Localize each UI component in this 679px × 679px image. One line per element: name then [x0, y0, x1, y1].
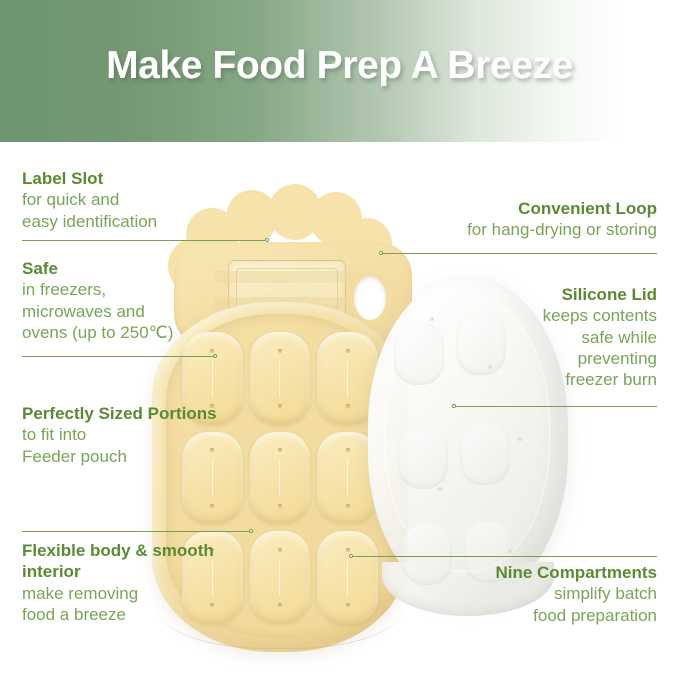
header-banner: Make Food Prep A Breeze: [0, 0, 679, 142]
product-infographic: Make Food Prep A Breeze: [0, 0, 679, 679]
callout-line: ovens (up to 250℃): [22, 322, 237, 343]
leader-line-safe: [22, 356, 214, 357]
leader-endpoint-dot: [349, 554, 353, 558]
callout-flexible-body: Flexible body & smooth interior make rem…: [22, 540, 232, 625]
callout-line: for hang-drying or storing: [357, 219, 657, 240]
callout-line: microwaves and: [22, 301, 237, 322]
compartment: [250, 332, 311, 425]
callout-line: in freezers,: [22, 279, 237, 300]
callout-title: Convenient Loop: [357, 198, 657, 219]
leader-endpoint-dot: [249, 529, 253, 533]
callout-line: for quick and: [22, 189, 232, 210]
page-title: Make Food Prep A Breeze: [0, 44, 679, 88]
callout-line: keeps contents: [377, 305, 657, 326]
callout-line: food preparation: [357, 605, 657, 626]
callout-perfectly-sized-portions: Perfectly Sized Portions to fit into Fee…: [22, 403, 222, 467]
lid-emboss: [398, 427, 448, 489]
callout-safe: Safe in freezers, microwaves and ovens (…: [22, 258, 237, 343]
lid-speck: [508, 549, 512, 553]
callout-convenient-loop: Convenient Loop for hang-drying or stori…: [357, 198, 657, 241]
leader-line-loop: [382, 253, 657, 254]
compartment: [250, 432, 311, 525]
callout-title: Label Slot: [22, 168, 232, 189]
leader-line-compartments: [352, 556, 657, 557]
callout-nine-compartments: Nine Compartments simplify batch food pr…: [357, 562, 657, 626]
callout-line: preventing: [377, 348, 657, 369]
callout-line: freezer burn: [377, 369, 657, 390]
callout-title: Silicone Lid: [377, 284, 657, 305]
leader-endpoint-dot: [379, 251, 383, 255]
callout-line: to fit into: [22, 424, 222, 445]
lid-emboss: [460, 423, 510, 485]
callout-line: simplify batch: [357, 583, 657, 604]
lid-speck: [438, 487, 442, 491]
callout-silicone-lid: Silicone Lid keeps contents safe while p…: [377, 284, 657, 390]
leader-endpoint-dot: [213, 354, 217, 358]
callout-title: Nine Compartments: [357, 562, 657, 583]
callout-title: Perfectly Sized Portions: [22, 403, 222, 424]
callout-line: food a breeze: [22, 604, 232, 625]
compartment: [250, 531, 311, 624]
callout-line: easy identification: [22, 211, 232, 232]
callout-line: make removing: [22, 583, 232, 604]
leader-line-portions: [22, 531, 250, 532]
callout-label-slot: Label Slot for quick and easy identifica…: [22, 168, 232, 232]
callout-line: Feeder pouch: [22, 446, 222, 467]
leader-endpoint-dot: [265, 238, 269, 242]
callout-line: safe while: [377, 327, 657, 348]
leader-line-lid: [455, 406, 657, 407]
callout-title: Flexible body & smooth interior: [22, 540, 232, 583]
leader-line-label-slot: [22, 240, 266, 241]
callout-title: Safe: [22, 258, 237, 279]
lid-speck: [518, 437, 522, 441]
leader-endpoint-dot: [452, 404, 456, 408]
